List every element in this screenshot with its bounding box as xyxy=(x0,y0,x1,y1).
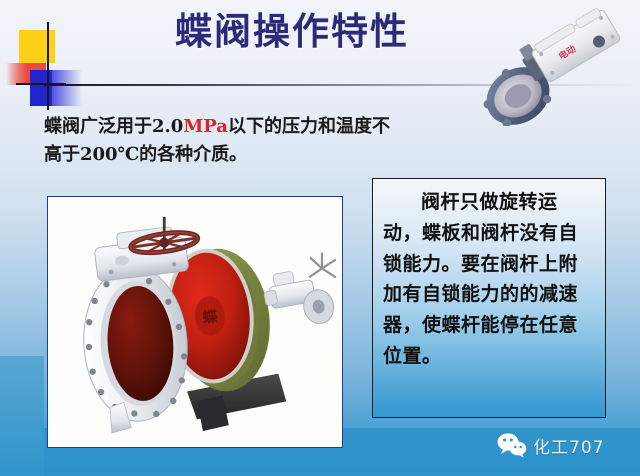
lead-highlight-mpa: MPa xyxy=(183,116,228,137)
page-title: 蝶阀操作特性 xyxy=(132,10,452,53)
butterfly-valve-photo: 蝶 xyxy=(47,196,343,448)
header-valve-image: 电动 xyxy=(468,8,640,126)
lead-paragraph: 蝶阀广泛用于2.0MPa以下的压力和温度不高于200℃的各种介质。 xyxy=(44,113,394,169)
wechat-icon xyxy=(497,432,527,458)
valve-body-marking: 蝶 xyxy=(202,307,219,326)
callout-textbox: 阀杆只做旋转运动，蝶板和阀杆没有自锁能力。要在阀杆上附加有自锁能力的的减速器，使… xyxy=(372,178,606,418)
callout-text: 阀杆只做旋转运动，蝶板和阀杆没有自锁能力。要在阀杆上附加有自锁能力的的减速器，使… xyxy=(383,187,595,372)
left-color-band xyxy=(0,356,44,476)
yellow-square-shape xyxy=(19,30,55,63)
vertical-rule-decoration xyxy=(47,22,49,110)
watermark-label: 化工707 xyxy=(533,433,604,458)
mondrian-decoration xyxy=(6,22,90,110)
slide-canvas: 蝶阀操作特性 xyxy=(0,0,640,476)
lead-text-before: 蝶阀广泛用于2.0 xyxy=(44,116,183,137)
watermark: 化工707 xyxy=(497,432,604,458)
